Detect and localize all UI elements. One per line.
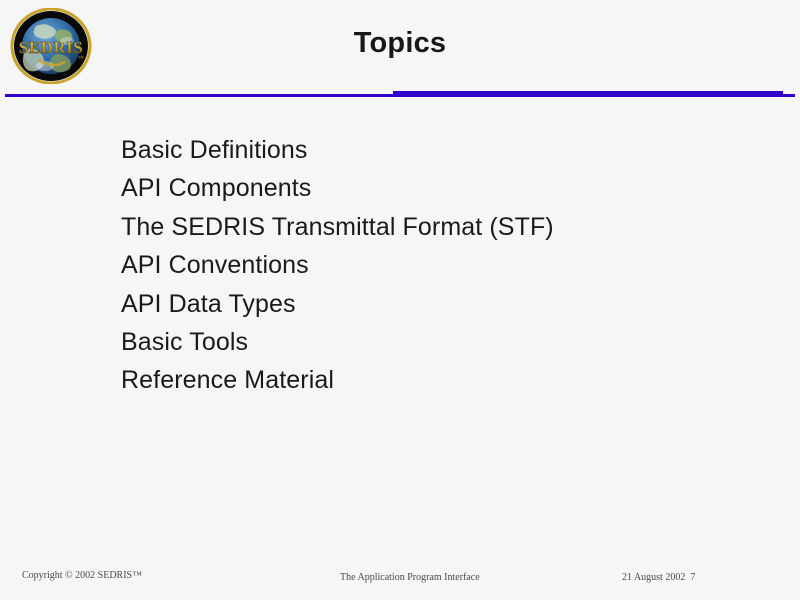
list-item: API Components [121, 169, 741, 207]
page-title: Topics [0, 26, 800, 60]
footer-subtitle: The Application Program Interface [340, 572, 480, 583]
page-number: 7 [690, 572, 695, 583]
footer-copyright: Copyright © 2002 SEDRIS™ [22, 570, 142, 581]
topics-list: Basic Definitions API Components The SED… [121, 131, 741, 400]
slide-footer: Copyright © 2002 SEDRIS™ The Application… [0, 570, 800, 586]
list-item: Basic Definitions [121, 131, 741, 169]
header-divider-right [393, 91, 783, 95]
list-item: Reference Material [121, 361, 741, 399]
list-item: API Data Types [121, 285, 741, 323]
list-item: API Conventions [121, 246, 741, 284]
slide: SEDRIS ™ Topics Basic Definitions API Co… [0, 0, 800, 600]
list-item: Basic Tools [121, 323, 741, 361]
list-item: The SEDRIS Transmittal Format (STF) [121, 208, 741, 246]
footer-date: 21 August 2002 [622, 572, 685, 583]
footer-date-page: 21 August 20027 [622, 572, 695, 583]
